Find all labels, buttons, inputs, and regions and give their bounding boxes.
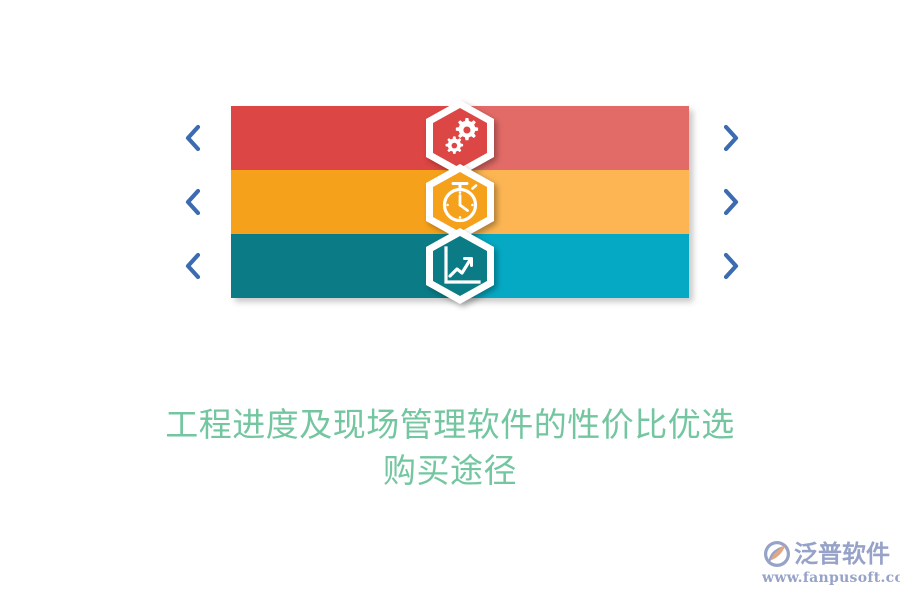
- band-quality-right-half: [460, 106, 689, 170]
- prev-chevron-row-2[interactable]: [180, 185, 206, 219]
- three-band-infographic-banner: [231, 106, 689, 298]
- page-root: 工程进度及现场管理软件的性价比优选 购买途径 泛普软件 www.fanpusof…: [0, 0, 900, 600]
- next-chevron-row-2[interactable]: [718, 185, 744, 219]
- band-quality[interactable]: [231, 106, 689, 170]
- page-title-line-1: 工程进度及现场管理软件的性价比优选: [0, 402, 900, 448]
- brand-name-cn: 泛普软件: [794, 539, 890, 569]
- band-quality-left-half: [231, 106, 460, 170]
- banner-area: [0, 0, 900, 330]
- band-schedule[interactable]: [231, 170, 689, 234]
- band-schedule-right-half: [460, 170, 689, 234]
- page-title: 工程进度及现场管理软件的性价比优选 购买途径: [0, 402, 900, 494]
- band-analytics[interactable]: [231, 234, 689, 298]
- prev-chevron-row-1[interactable]: [180, 121, 206, 155]
- page-title-line-2: 购买途径: [0, 448, 900, 494]
- fanpu-logo-icon: [762, 539, 792, 569]
- next-chevron-row-3[interactable]: [718, 249, 744, 283]
- brand-watermark: 泛普软件 www.fanpusoft.com: [762, 537, 894, 593]
- next-chevron-row-1[interactable]: [718, 121, 744, 155]
- brand-url: www.fanpusoft.com: [762, 570, 894, 586]
- band-analytics-right-half: [460, 234, 689, 298]
- band-analytics-left-half: [231, 234, 460, 298]
- brand-watermark-top: 泛普软件: [762, 537, 894, 571]
- band-schedule-left-half: [231, 170, 460, 234]
- prev-chevron-row-3[interactable]: [180, 249, 206, 283]
